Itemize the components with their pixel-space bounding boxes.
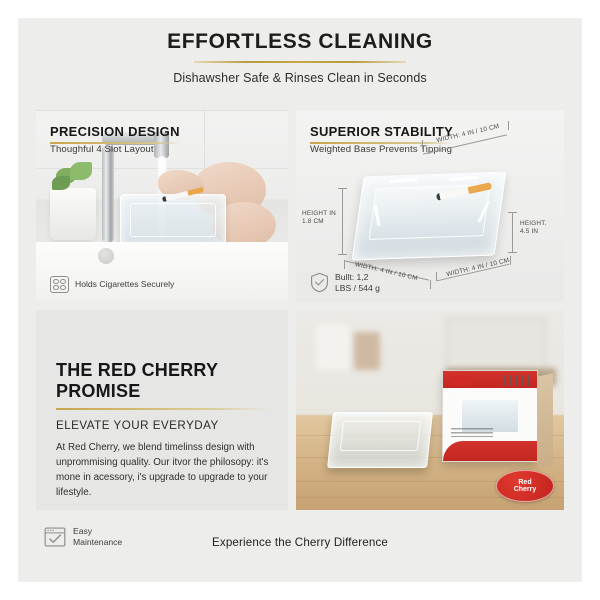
infographic-canvas: EFFORTLESS CLEANING Dishawsher Safe & Ri… xyxy=(18,18,582,582)
promise-block: THE RED CHERRY PROMISE ELEVATE YOUR EVER… xyxy=(56,360,270,500)
stability-title: SUPERIOR STABILITY xyxy=(310,124,453,144)
package-cjk-text xyxy=(503,375,531,386)
faucet-column xyxy=(102,146,114,242)
footer-tagline: Experience the Cherry Difference xyxy=(36,536,564,549)
badge-holds-cigarettes-label: Holds Cigarettes Securely xyxy=(75,279,174,289)
dim-bottom-right-width: WIDTH: 4 IN / 10 CM xyxy=(446,257,510,279)
product-glass-ashtray xyxy=(327,412,433,468)
dim-right-height: HEIGHT. 4.5 IN xyxy=(520,220,547,236)
panel-product-photo: Red Cherry xyxy=(296,310,564,510)
retail-package xyxy=(442,370,538,462)
panel-precision-design: PRECISION DESIGN Thoughful 4 Slot Layout… xyxy=(36,110,288,302)
precision-title: PRECISION DESIGN xyxy=(50,124,180,144)
precision-subtitle: Thoughful 4 Slot Layout xyxy=(50,144,154,155)
promise-divider xyxy=(56,408,270,410)
package-logo-icon xyxy=(449,375,475,386)
shield-check-icon xyxy=(310,272,329,293)
four-slot-grid-icon xyxy=(50,276,69,293)
sink-drain xyxy=(98,248,114,264)
badge-weight: Bullt: 1,2 LBS / 544 g xyxy=(310,272,380,293)
header: EFFORTLESS CLEANING Dishawsher Safe & Ri… xyxy=(18,30,582,85)
dim-left-height: HEIGHT IN 1.8 CM xyxy=(302,210,336,226)
footer: Easy Maintenance Experience the Cherry D… xyxy=(36,518,564,564)
package-caption-text xyxy=(451,428,493,437)
page-title: EFFORTLESS CLEANING xyxy=(18,30,582,54)
promise-subtitle: ELEVATE YOUR EVERYDAY xyxy=(56,419,270,432)
sink-basin xyxy=(36,242,288,302)
promise-title: THE RED CHERRY PROMISE xyxy=(56,360,270,402)
plant-pot xyxy=(50,188,96,240)
badge-holds-cigarettes: Holds Cigarettes Securely xyxy=(50,276,174,293)
panel-brand-promise: THE RED CHERRY PROMISE ELEVATE YOUR EVER… xyxy=(36,310,288,510)
header-subtitle: Dishawsher Safe & Rinses Clean in Second… xyxy=(18,71,582,85)
red-cherry-logo: Red Cherry xyxy=(496,470,554,502)
badge-weight-text: Bullt: 1,2 LBS / 544 g xyxy=(335,272,380,293)
panel-superior-stability: WIDTH: 4 IN / 10 CM HEIGHT IN 1.8 CM HEI… xyxy=(296,110,564,302)
stability-subtitle: Weighted Base Prevents Tipping xyxy=(310,144,452,155)
lifestyle-photo: Red Cherry xyxy=(296,310,564,510)
title-divider xyxy=(194,61,406,63)
promise-body: At Red Cherry, we blend timelinss design… xyxy=(56,440,270,501)
